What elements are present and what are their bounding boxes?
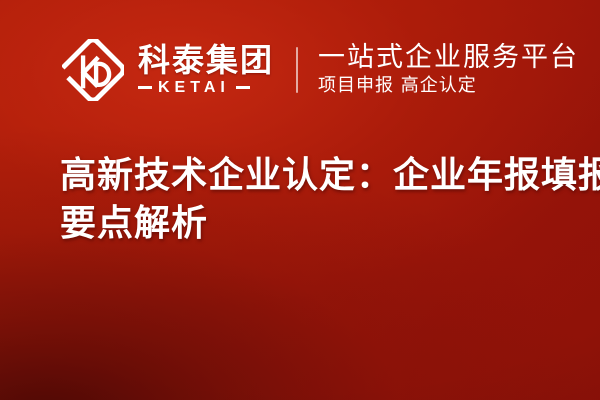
logo-english-name: KETAI [158,80,230,96]
logo-rule-right-icon [236,86,250,89]
tagline-block: 一站式企业服务平台 项目申报 高企认定 [318,44,579,96]
ketai-diamond-kd-monogram-icon [62,39,124,101]
headline-block: 高新技术企业认定：企业年报填报 要点解析 [60,152,560,248]
logo-chinese-name: 科泰集团 [138,44,274,77]
logo-wordmark: 科泰集团 KETAI [138,44,274,95]
promo-banner: 科泰集团 KETAI 一站式企业服务平台 项目申报 高企认定 高新技术企业认定：… [0,0,600,400]
logo-rule-left-icon [138,86,152,89]
banner-header: 科泰集团 KETAI 一站式企业服务平台 项目申报 高企认定 [62,30,579,110]
brand-logo[interactable]: 科泰集团 KETAI [62,39,274,101]
tagline-secondary: 项目申报 高企认定 [318,77,579,96]
tagline-primary: 一站式企业服务平台 [318,44,579,72]
headline-line-2: 要点解析 [60,200,560,248]
headline-line-1: 高新技术企业认定：企业年报填报 [60,152,560,200]
header-vertical-divider [296,47,298,93]
logo-english-lockup: KETAI [138,80,274,96]
